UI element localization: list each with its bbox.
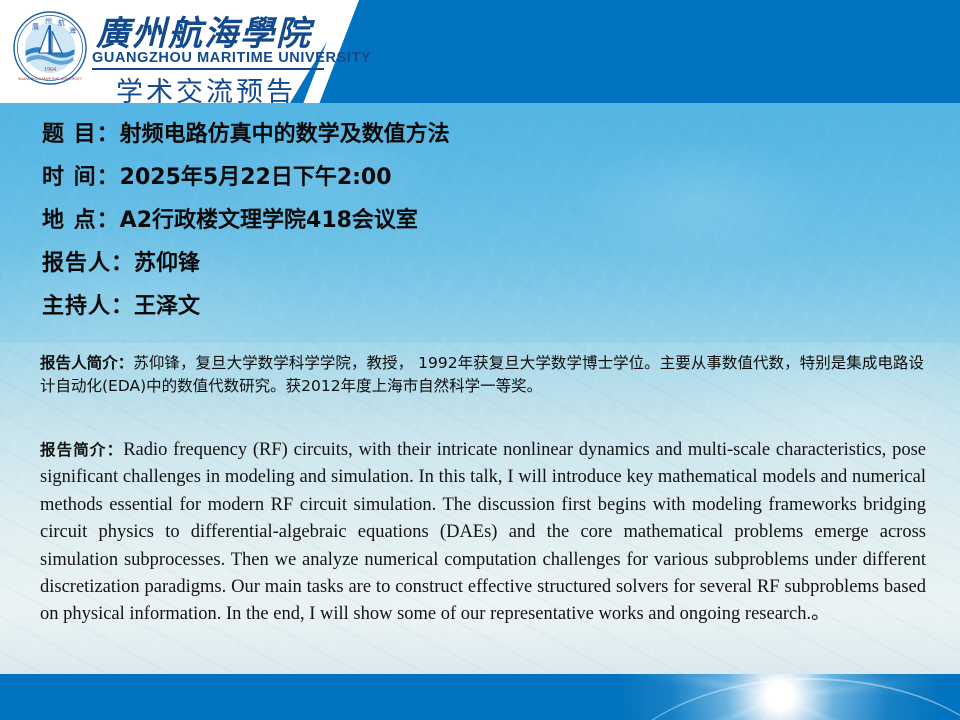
abstract-text: Radio frequency (RF) circuits, with thei… <box>40 440 926 624</box>
info-row-time: 时 间：2025年5月22日下午2:00 <box>42 167 922 189</box>
info-row-topic: 题 目：射频电路仿真中的数学及数值方法 <box>42 124 922 146</box>
speaker-value: 苏仰锋 <box>134 251 200 276</box>
maritime-university-seal-icon: 1964 廣 州 航 海 GUANGZHOU MARITIME UNIVERSI… <box>12 8 88 88</box>
svg-text:海: 海 <box>69 26 76 35</box>
header-subtitle: 学术交流预告 <box>116 70 296 103</box>
topic-value: 射频电路仿真中的数学及数值方法 <box>120 122 450 147</box>
poster-header: 1964 廣 州 航 海 GUANGZHOU MARITIME UNIVERSI… <box>0 0 960 103</box>
host-label: 主持人： <box>42 294 134 319</box>
speaker-bio-block: 报告人简介：苏仰锋，复旦大学数学科学学院，教授， 1992年获复旦大学数学博士学… <box>40 352 924 398</box>
svg-text:1964: 1964 <box>44 67 56 73</box>
sunburst-flare-icon <box>560 674 960 720</box>
svg-text:州: 州 <box>45 17 52 25</box>
svg-text:GUANGZHOU MARITIME UNIVERSITY: GUANGZHOU MARITIME UNIVERSITY <box>18 77 83 81</box>
seminar-info-block: 题 目：射频电路仿真中的数学及数值方法 时 间：2025年5月22日下午2:00… <box>42 124 922 339</box>
seminar-poster: 1964 廣 州 航 海 GUANGZHOU MARITIME UNIVERSI… <box>0 0 960 720</box>
speaker-bio-text: 苏仰锋，复旦大学数学科学学院，教授， 1992年获复旦大学数学博士学位。主要从事… <box>40 354 924 395</box>
time-value: 2025年5月22日下午2:00 <box>120 165 392 190</box>
info-row-host: 主持人：王泽文 <box>42 296 922 318</box>
school-name-english: GUANGZHOU MARITIME UNIVERSITY <box>92 50 371 66</box>
time-label: 时 间： <box>42 165 120 190</box>
speaker-bio-label: 报告人简介： <box>40 354 133 372</box>
poster-footer <box>0 674 960 720</box>
venue-value: A2行政楼文理学院418会议室 <box>120 208 418 233</box>
info-row-venue: 地 点：A2行政楼文理学院418会议室 <box>42 210 922 232</box>
topic-label: 题 目： <box>42 122 120 147</box>
info-row-speaker: 报告人：苏仰锋 <box>42 253 922 275</box>
school-name-chinese: 廣州航海學院 <box>96 6 312 55</box>
venue-label: 地 点： <box>42 208 120 233</box>
abstract-block: 报告简介：Radio frequency (RF) circuits, with… <box>40 437 926 629</box>
svg-text:廣: 廣 <box>32 22 39 31</box>
svg-text:航: 航 <box>58 18 65 27</box>
host-value: 王泽文 <box>134 294 200 319</box>
speaker-label: 报告人： <box>42 251 134 276</box>
abstract-label: 报告简介： <box>40 441 123 459</box>
